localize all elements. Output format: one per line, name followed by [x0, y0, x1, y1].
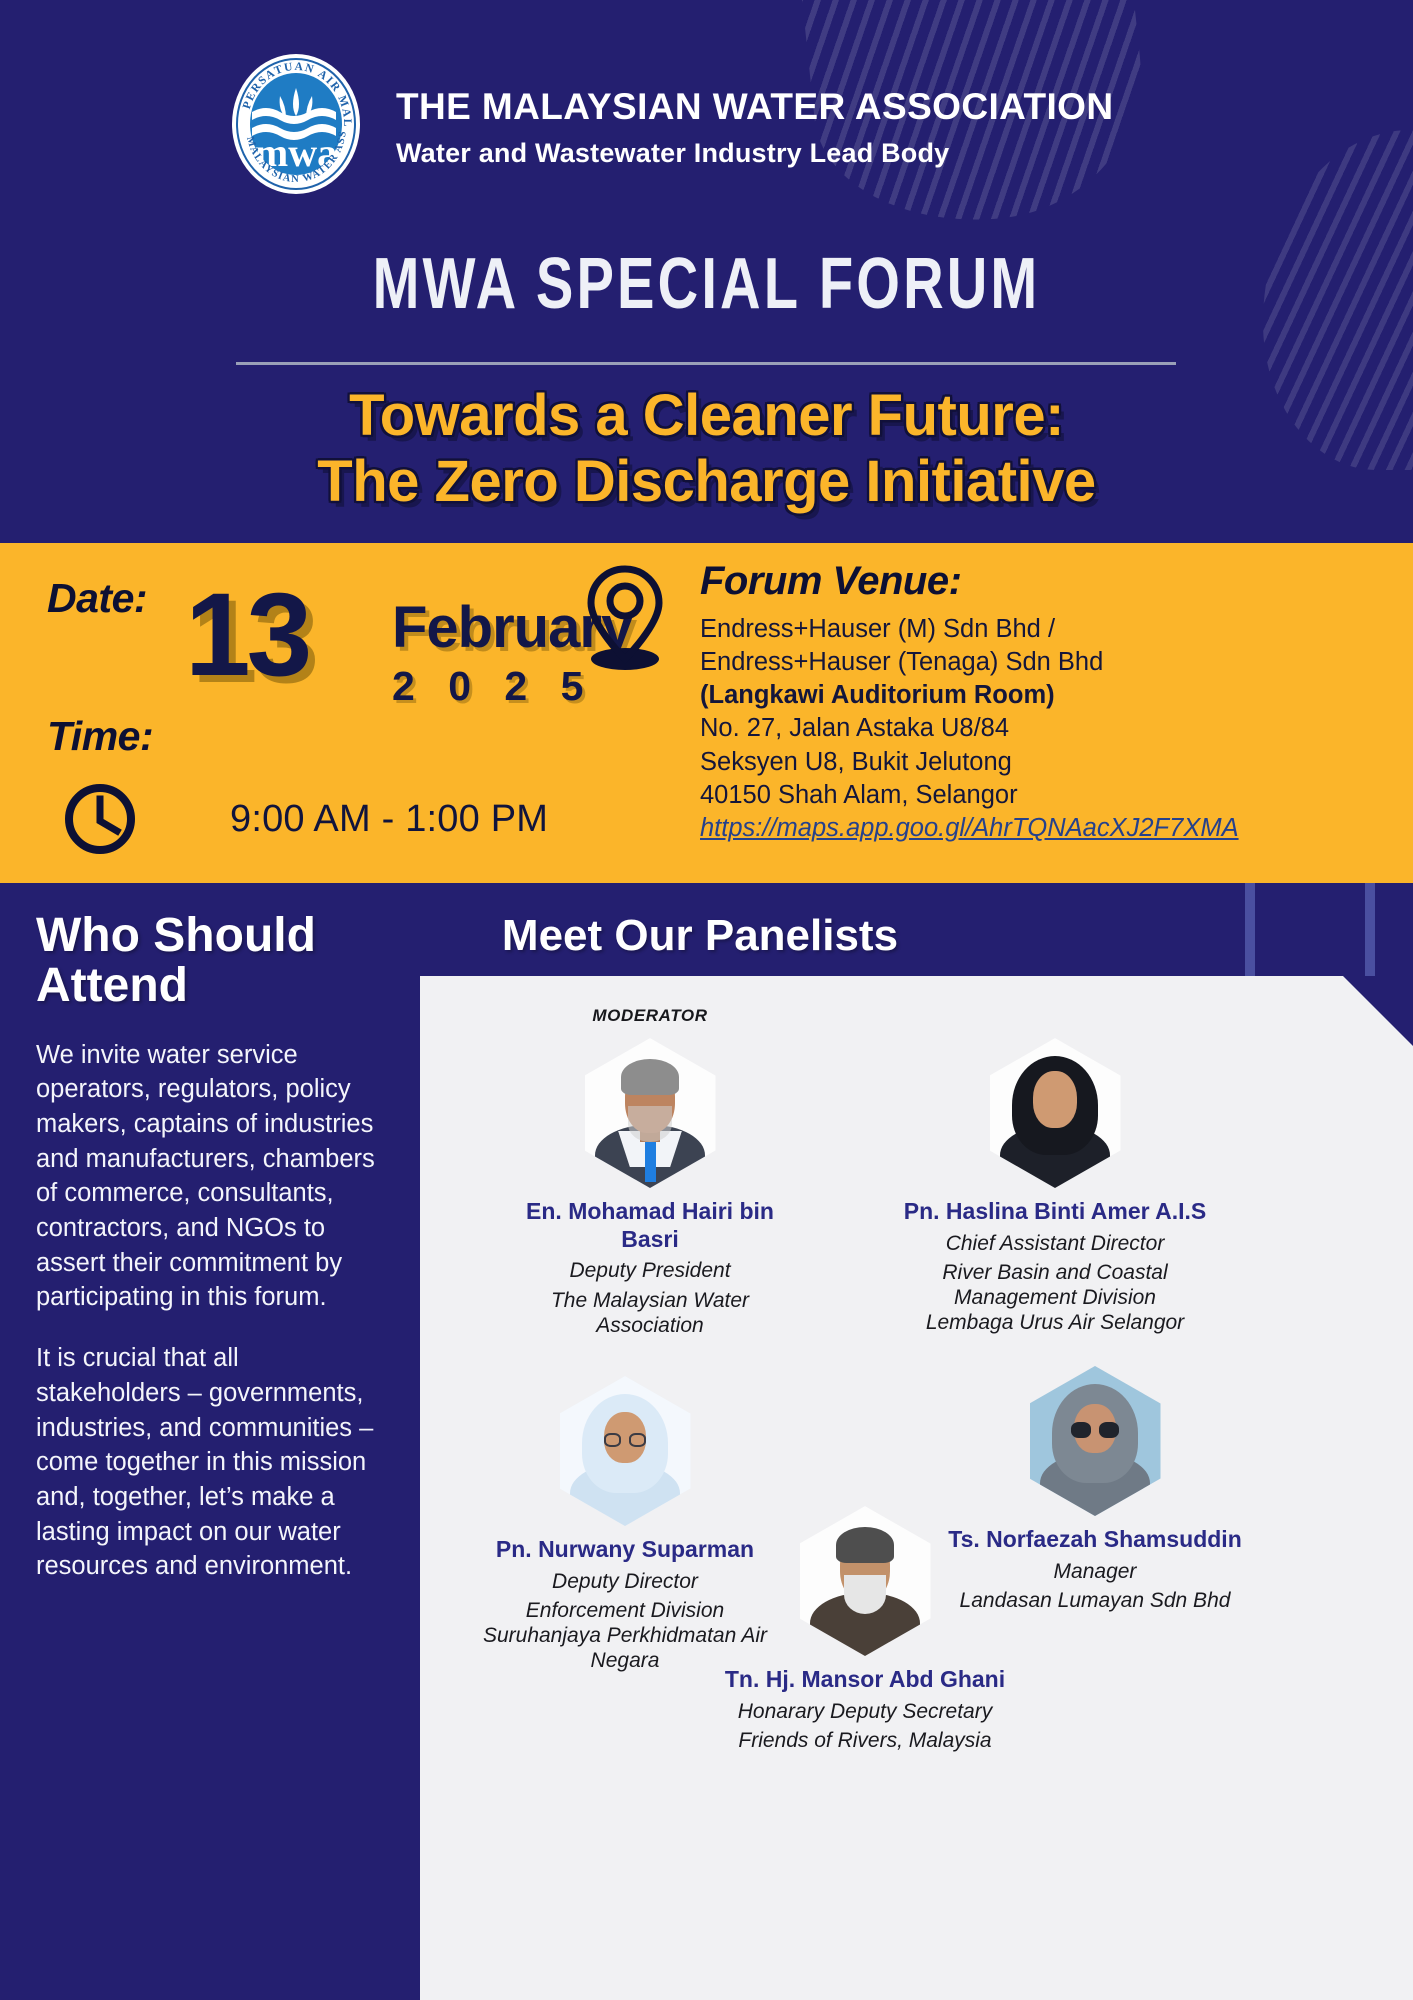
event-details-band: Date: 13 February 2 0 2 5 Time: 9:00 AM … [0, 543, 1413, 883]
forum-kicker: MWA SPECIAL FORUM [155, 248, 1257, 320]
venue-line-3: No. 27, Jalan Astaka U8/84 [700, 712, 1280, 745]
panelist-role: Deputy President [495, 1258, 805, 1284]
panelist-photo [560, 1376, 691, 1526]
panelist-role: Chief Assistant Director [900, 1231, 1210, 1257]
event-year: 2 0 2 5 [392, 663, 594, 710]
panelist-photo [800, 1506, 931, 1656]
mwa-seal-logo-icon: mwa PERSATUAN AIR MALAYSIA MALAYSIAN WAT… [222, 50, 370, 198]
event-time: 9:00 AM - 1:00 PM [230, 798, 548, 841]
panelist-name: Pn. Haslina Binti Amer A.I.S [900, 1198, 1210, 1226]
attend-heading: Who Should Attend [36, 911, 384, 1012]
lower-section: Who Should Attend We invite water servic… [0, 883, 1413, 2000]
panelists-card: MODERATOR En. Mohamad Hairi bin Basri De… [420, 976, 1413, 2000]
panelist-role: Honarary Deputy Secretary [710, 1699, 1020, 1725]
divider-rule [236, 362, 1176, 365]
venue-line-2: Endress+Hauser (Tenaga) Sdn Bhd [700, 646, 1280, 679]
panelist-card: MODERATOR En. Mohamad Hairi bin Basri De… [495, 1006, 805, 1338]
event-day: 13 [185, 581, 308, 690]
venue-label: Forum Venue: [700, 559, 961, 604]
who-should-attend: Who Should Attend We invite water servic… [36, 911, 384, 1584]
venue-address: Endress+Hauser (M) Sdn Bhd / Endress+Hau… [700, 613, 1280, 845]
attend-paragraph-2: It is crucial that all stakeholders – go… [36, 1341, 384, 1584]
venue-line-1: Endress+Hauser (M) Sdn Bhd / [700, 613, 1280, 646]
attend-heading-line-1: Who Should [36, 909, 316, 962]
venue-room: (Langkawi Auditorium Room) [700, 679, 1280, 712]
panelists-heading: Meet Our Panelists [385, 911, 1015, 961]
hero-section: mwa PERSATUAN AIR MALAYSIA MALAYSIAN WAT… [0, 0, 1413, 543]
venue-map-link[interactable]: https://maps.app.goo.gl/AhrTQNAacXJ2F7XM… [700, 812, 1239, 845]
panelist-org: River Basin and Coastal Management Divis… [900, 1261, 1210, 1335]
panelist-card: Pn. Haslina Binti Amer A.I.S Chief Assis… [900, 1038, 1210, 1336]
clock-icon [62, 781, 138, 857]
attend-heading-line-2: Attend [36, 959, 188, 1012]
panelist-org: Friends of Rivers, Malaysia [710, 1729, 1020, 1754]
panelist-name: Tn. Hj. Mansor Abd Ghani [710, 1666, 1020, 1694]
forum-title-line-2: The Zero Discharge Initiative [0, 449, 1413, 515]
map-pin-icon [580, 563, 670, 671]
panelist-photo [1030, 1366, 1161, 1516]
brand-block: mwa PERSATUAN AIR MALAYSIA MALAYSIAN WAT… [222, 50, 1113, 198]
date-label: Date: [47, 575, 147, 622]
venue-line-4: Seksyen U8, Bukit Jelutong [700, 746, 1280, 779]
time-label: Time: [47, 713, 153, 760]
panelist-photo [990, 1038, 1121, 1188]
venue-line-5: 40150 Shah Alam, Selangor [700, 779, 1280, 812]
attend-paragraph-1: We invite water service operators, regul… [36, 1038, 384, 1315]
panelist-org: The Malaysian Water Association [495, 1289, 805, 1339]
forum-title-line-1: Towards a Cleaner Future: [0, 383, 1413, 449]
panelist-name: En. Mohamad Hairi bin Basri [495, 1198, 805, 1253]
venue-block: Forum Venue: Endress+Hauser (M) Sdn Bhd … [700, 543, 1413, 883]
org-name: THE MALAYSIAN WATER ASSOCIATION [396, 87, 1113, 128]
moderator-tag: MODERATOR [495, 1006, 805, 1026]
panelist-card: Tn. Hj. Mansor Abd Ghani Honarary Deputy… [710, 1506, 1020, 1754]
forum-title: Towards a Cleaner Future: The Zero Disch… [0, 383, 1413, 514]
org-tagline: Water and Wastewater Industry Lead Body [396, 138, 1113, 169]
panelist-photo [585, 1038, 716, 1188]
